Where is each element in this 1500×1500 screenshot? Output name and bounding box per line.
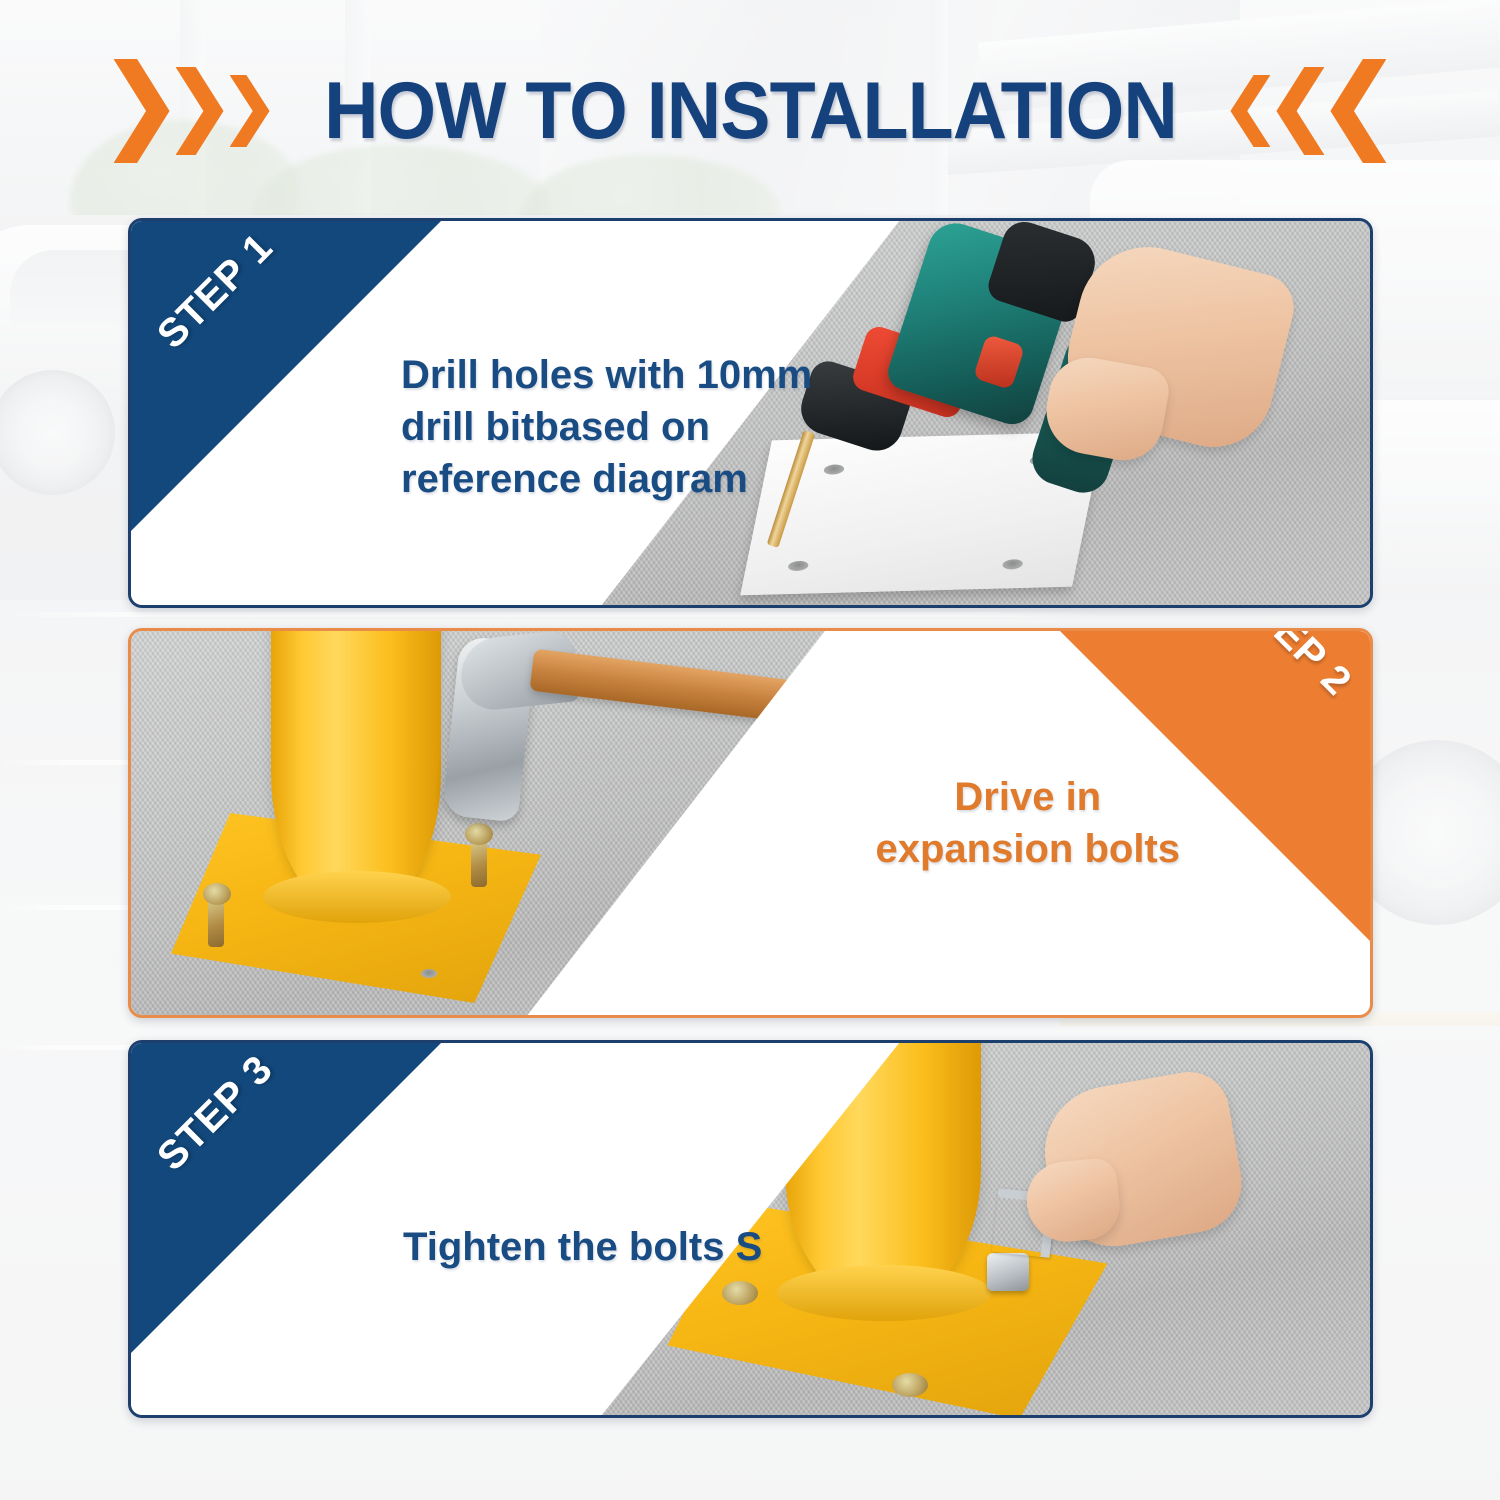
step-card-2: STEP 2 Drive in expansion bolts [128, 628, 1373, 1018]
bollard-base-flare [263, 871, 451, 923]
chevron-left-large-icon [1330, 59, 1386, 163]
page-header: HOW TO INSTALLATION [0, 52, 1500, 170]
tightened-bolt-right [987, 1253, 1029, 1291]
drill-hole-4 [1002, 559, 1024, 570]
chevron-right-medium-icon [176, 67, 224, 155]
step-card-1: STEP 1 Drill holes with 10mm drill bitba… [128, 218, 1373, 608]
yellow-bollard-post [271, 631, 441, 911]
chevron-right-small-icon [230, 75, 270, 147]
step-2-description: Drive in expansion bolts [876, 771, 1181, 875]
bollard-base-flare-3 [777, 1265, 991, 1321]
chevron-left-small-icon [1230, 75, 1270, 147]
base-plate-open-hole [421, 969, 437, 978]
page-title: HOW TO INSTALLATION [324, 65, 1177, 158]
step-1-description: Drill holes with 10mm drill bitbased on … [401, 349, 812, 505]
chevron-right-large-icon [114, 59, 170, 163]
expansion-bolt-left-shaft [208, 899, 224, 947]
hammer-handle [529, 649, 802, 724]
expansion-bolt-left-cap [203, 883, 231, 905]
chevron-left-medium-icon [1276, 67, 1324, 155]
step-card-3: STEP 3 Tighten the bolts S [128, 1040, 1373, 1418]
expansion-bolt-right-shaft [471, 841, 487, 887]
chevrons-right [1230, 59, 1386, 163]
step-3-description: Tighten the bolts S [403, 1221, 762, 1273]
drill-hole-1 [823, 464, 845, 475]
chevrons-left [114, 59, 270, 163]
drill-hole-3 [788, 561, 810, 572]
infographic-page: HOW TO INSTALLATION [0, 0, 1500, 1500]
expansion-bolt-right-cap [465, 823, 493, 845]
